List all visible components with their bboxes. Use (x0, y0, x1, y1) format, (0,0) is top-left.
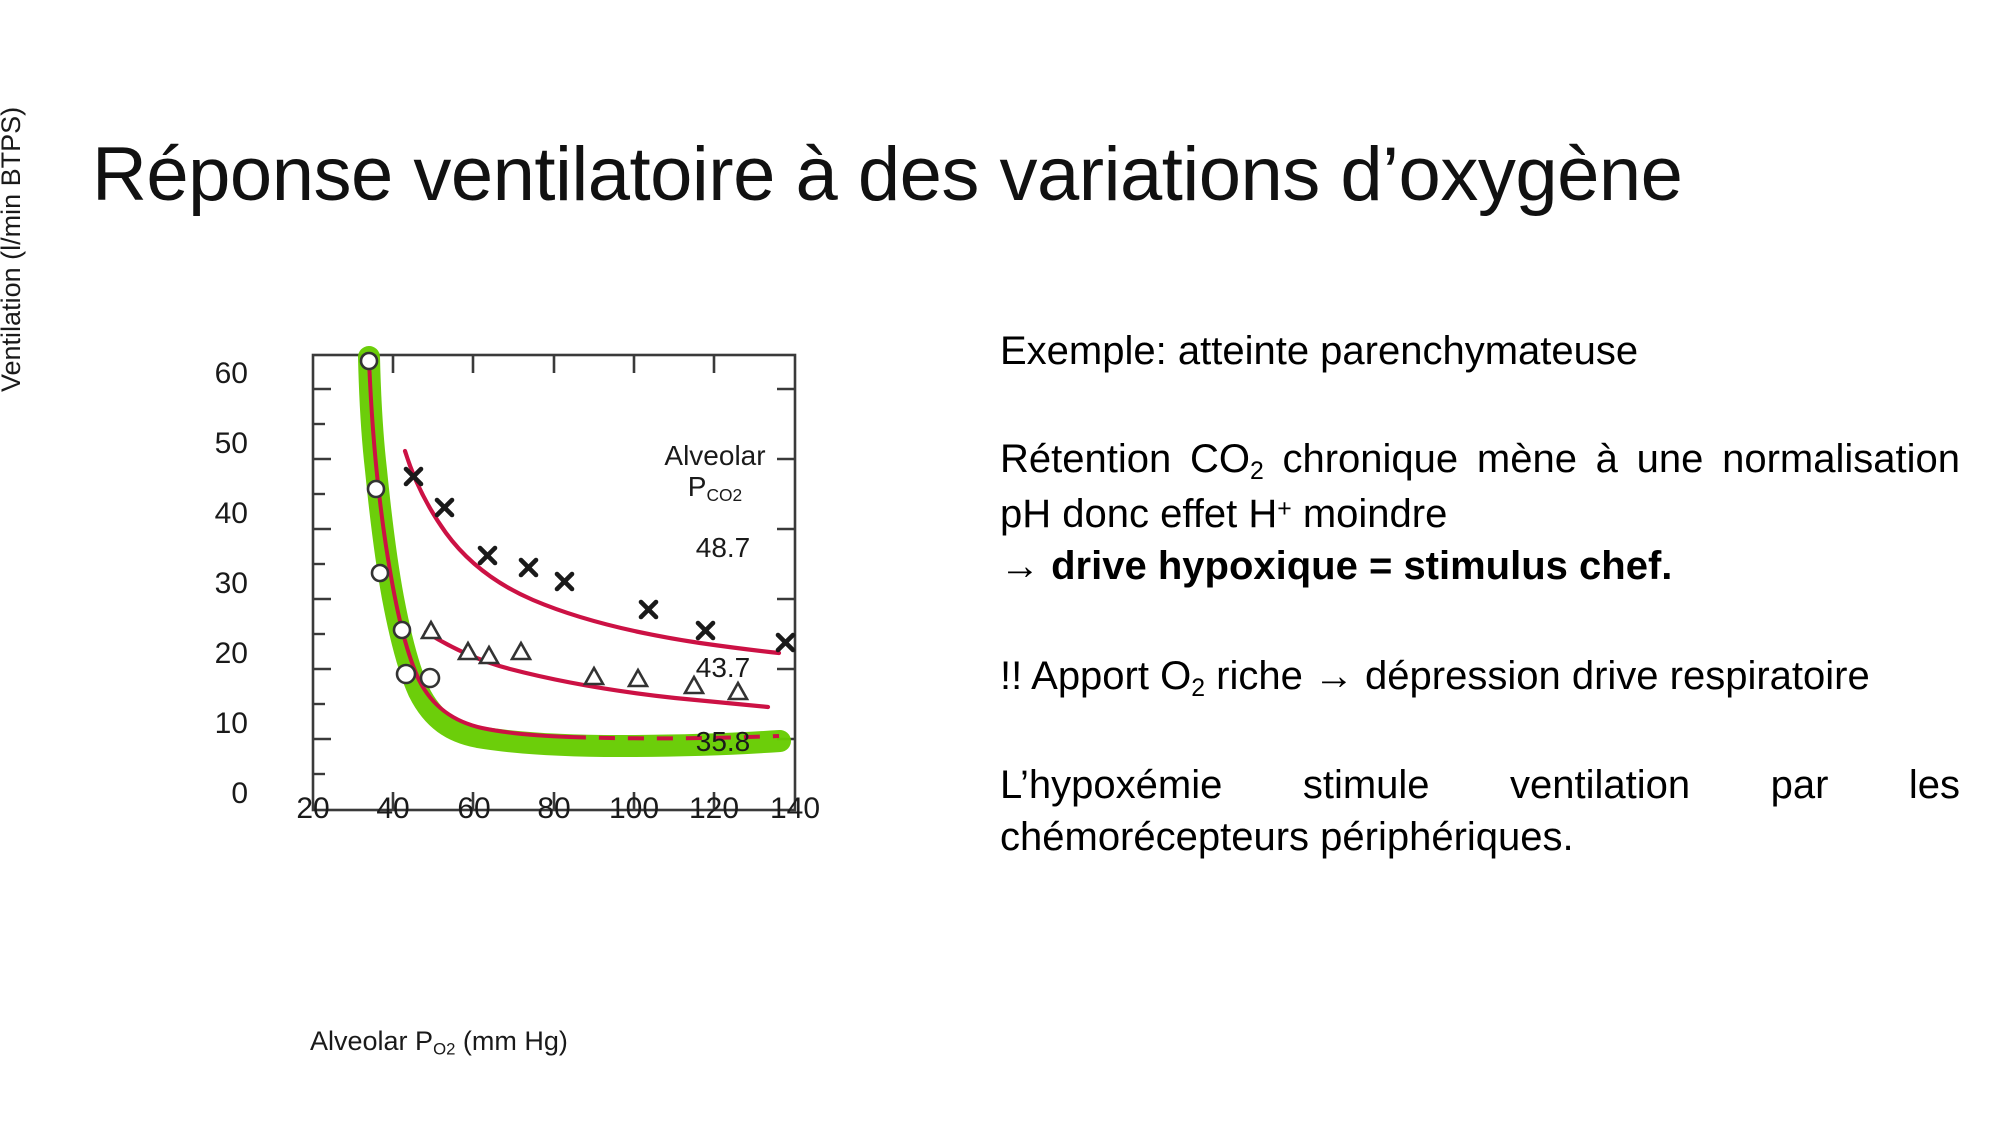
series-label-35-8: 35.8 (658, 726, 788, 757)
paragraph-hypoxemie: L’hypoxémie stimule ventilation par les … (1000, 759, 1960, 863)
y-tick-30: 30 (200, 567, 248, 601)
paragraph-retention: Rétention CO2 chronique mène à une norma… (1000, 433, 1960, 540)
x-tick-100: 100 (594, 792, 674, 826)
paragraph-example: Exemple: atteinte parenchymateuse (1000, 325, 1960, 377)
annotation-alveolar-pco2: Alveolar PCO2 (630, 440, 800, 506)
y-tick-40: 40 (200, 497, 248, 531)
x-tick-20: 20 (273, 792, 353, 826)
x-axis-label: Alveolar PO2 (mm Hg) (310, 1026, 568, 1060)
y-tick-10: 10 (200, 707, 248, 741)
spacer-2 (1000, 592, 1960, 650)
slide: Réponse ventilatoire à des variations d’… (0, 0, 2000, 1125)
page-title: Réponse ventilatoire à des variations d’… (92, 135, 1932, 215)
spacer-1 (1000, 377, 1960, 433)
series-label-43-7: 43.7 (658, 652, 788, 683)
x-tick-140: 140 (755, 792, 835, 826)
y-tick-50: 50 (200, 427, 248, 461)
x-tick-80: 80 (514, 792, 594, 826)
y-tick-20: 20 (200, 637, 248, 671)
y-axis-label: Ventilation (l/min BTPS) (0, 107, 27, 392)
y-tick-60: 60 (200, 357, 248, 391)
paragraph-drive-hypoxique: → drive hypoxique = stimulus chef. (1000, 540, 1960, 592)
x-tick-120: 120 (674, 792, 754, 826)
spacer-3 (1000, 705, 1960, 759)
x-tick-40: 40 (353, 792, 433, 826)
y-tick-0: 0 (200, 777, 248, 811)
x-tick-60: 60 (434, 792, 514, 826)
series-label-48-7: 48.7 (658, 532, 788, 563)
body-text-column: Exemple: atteinte parenchymateuse Rétent… (1000, 325, 1960, 863)
paragraph-apport-o2: !! Apport O2 riche → dépression drive re… (1000, 650, 1960, 705)
